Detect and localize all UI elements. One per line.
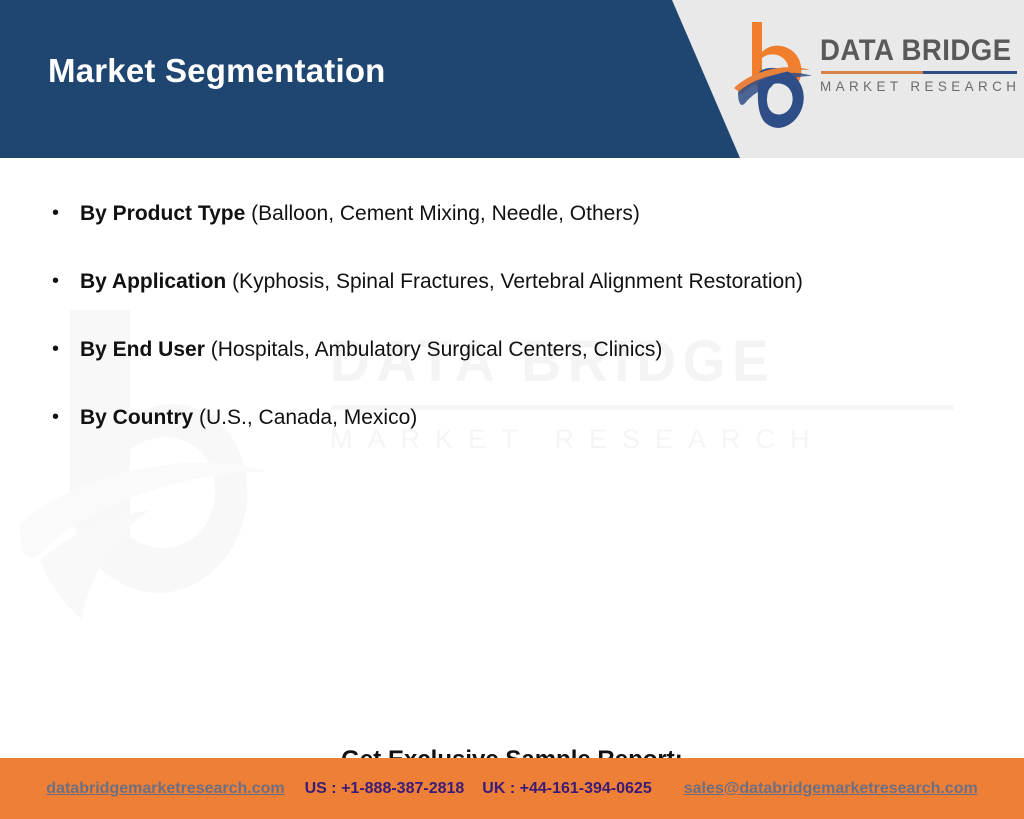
bullet-label: By Country xyxy=(80,406,193,429)
footer-us-phone[interactable]: US : +1-888-387-2818 xyxy=(305,780,465,798)
page-title: Market Segmentation xyxy=(48,52,386,90)
brand-name: DATA BRIDGE xyxy=(820,34,1004,68)
list-item: By End User (Hospitals, Ambulatory Surgi… xyxy=(46,334,976,366)
brand-logo: DATA BRIDGE MARKET RESEARCH xyxy=(732,18,1020,138)
bullet-values: (Hospitals, Ambulatory Surgical Centers,… xyxy=(205,338,663,361)
bullet-label: By End User xyxy=(80,338,205,361)
footer-website-link[interactable]: databridgemarketresearch.com xyxy=(46,780,284,798)
bullet-label: By Application xyxy=(80,270,226,293)
footer-uk-phone[interactable]: UK : +44-161-394-0625 xyxy=(482,780,651,798)
slide-body: By Product Type (Balloon, Cement Mixing,… xyxy=(0,158,1024,758)
header-band: Market Segmentation xyxy=(0,0,1024,158)
segmentation-list: By Product Type (Balloon, Cement Mixing,… xyxy=(46,198,976,470)
footer-contacts: databridgemarketresearch.com US : +1-888… xyxy=(0,758,1024,819)
data-bridge-b-icon xyxy=(732,18,816,130)
bullet-values: (Kyphosis, Spinal Fractures, Vertebral A… xyxy=(226,270,803,293)
brand-tagline: MARKET RESEARCH xyxy=(820,78,1012,94)
footer-band: databridgemarketresearch.com US : +1-888… xyxy=(0,758,1024,819)
slide: Market Segmentation xyxy=(0,0,1024,819)
brand-divider xyxy=(821,71,1017,74)
bullet-values: (Balloon, Cement Mixing, Needle, Others) xyxy=(245,202,640,225)
list-item: By Product Type (Balloon, Cement Mixing,… xyxy=(46,198,976,230)
list-item: By Country (U.S., Canada, Mexico) xyxy=(46,402,976,434)
list-item: By Application (Kyphosis, Spinal Fractur… xyxy=(46,266,976,298)
footer-email-link[interactable]: sales@databridgemarketresearch.com xyxy=(684,780,978,798)
bullet-label: By Product Type xyxy=(80,202,245,225)
bullet-values: (U.S., Canada, Mexico) xyxy=(193,406,417,429)
brand-wordmark: DATA BRIDGE MARKET RESEARCH xyxy=(820,34,1020,94)
